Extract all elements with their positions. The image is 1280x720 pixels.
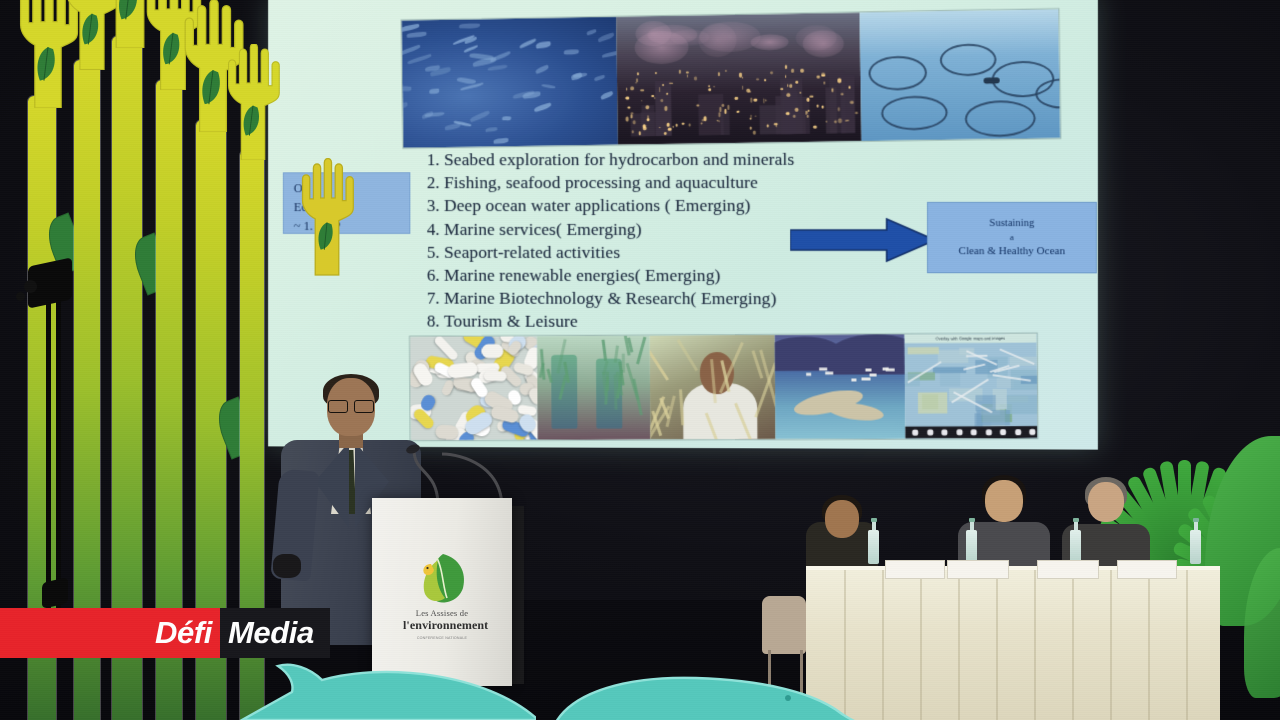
- photo-detail: [642, 100, 643, 102]
- panellist-head: [1088, 482, 1124, 522]
- photo-detail: [628, 106, 631, 108]
- photo-detail: [402, 23, 420, 32]
- photo-detail: [639, 131, 641, 136]
- water-bottle: [966, 518, 977, 564]
- photo-detail: [662, 84, 664, 86]
- photo-detail: [402, 45, 421, 56]
- photo-google-maps-screenshot: Overlay with Google maps and images: [904, 334, 1037, 439]
- photo-detail: [483, 371, 506, 382]
- water-bottle: [868, 518, 879, 564]
- photo-detail: [793, 114, 795, 118]
- photo-detail: [402, 86, 412, 92]
- panellist-head: [985, 480, 1023, 522]
- photo-detail: [791, 69, 794, 73]
- slide-bottom-image-strip: Overlay with Google maps and images: [409, 332, 1038, 441]
- photo-detail: [841, 93, 844, 94]
- photo-detail: [908, 347, 939, 354]
- podium-logo-line2: l'environnement: [403, 618, 481, 633]
- photo-detail: [640, 90, 644, 92]
- photo-detail: [708, 89, 711, 91]
- photo-detail: [786, 112, 790, 114]
- photo-detail: [659, 87, 660, 92]
- podium-logo: Les Assises de l'environnement CONFERENC…: [403, 552, 481, 640]
- photo-detail: [850, 101, 853, 104]
- photo-detail: [626, 88, 627, 91]
- photo-detail: [464, 44, 479, 52]
- photo-detail: [651, 95, 654, 97]
- photo-detail: [806, 98, 809, 102]
- taskbar-icon: [1000, 429, 1006, 435]
- photo-detail: [429, 89, 439, 94]
- table-drape-fold: [882, 570, 884, 720]
- photo-detail: [719, 107, 721, 112]
- slide-list-item: Marine Biotechnology & Research( Emergin…: [444, 287, 966, 311]
- watermark-word-defi: Défi: [155, 615, 212, 651]
- moored-boat: [806, 373, 811, 376]
- photo-detail: [823, 81, 825, 84]
- photo-laboratory-bottles: [537, 335, 650, 439]
- photo-detail: [826, 400, 884, 424]
- photo-detail: [800, 69, 804, 73]
- photo-detail: [673, 126, 674, 129]
- table-drape-fold: [920, 570, 922, 720]
- photo-detail: [407, 53, 432, 64]
- photo-detail: [754, 98, 758, 101]
- taskbar-icon: [1029, 429, 1035, 435]
- podium-logo-line3: CONFERENCE NATIONALE: [403, 636, 481, 640]
- photo-detail: [681, 122, 684, 125]
- moored-boat: [819, 367, 827, 370]
- photo-aquaculture-fish-pens: [860, 9, 1060, 141]
- photo-detail: [770, 71, 774, 74]
- water-bottle: [1070, 518, 1081, 564]
- photo-detail: [725, 70, 727, 72]
- photo-detail: [1006, 395, 1037, 414]
- sustaining-line2: a: [928, 232, 1096, 242]
- plant-stem: [636, 336, 646, 363]
- photo-detail: [696, 104, 700, 106]
- name-card: [1037, 560, 1099, 579]
- boat: [984, 77, 1000, 83]
- photo-detail: [810, 95, 813, 97]
- photo-detail: [789, 84, 792, 88]
- photo-detail: [759, 105, 783, 134]
- photo-detail: [502, 116, 511, 121]
- photo-detail: [601, 49, 618, 57]
- photo-detail: [735, 97, 738, 100]
- taskbar-icon: [971, 429, 977, 435]
- moored-boat: [866, 369, 872, 372]
- lighting-stand: [22, 262, 92, 622]
- photo-detail: [587, 29, 598, 36]
- plant-stem: [613, 375, 617, 410]
- moored-boat: [862, 377, 870, 380]
- water-bottle: [1190, 518, 1201, 564]
- photo-detail: [535, 64, 550, 74]
- photo-detail: [469, 111, 490, 123]
- photo-detail: [689, 124, 691, 127]
- photo-detail: [813, 126, 817, 128]
- photo-detail: [487, 65, 508, 71]
- photo-detail: [694, 77, 697, 81]
- photo-detail: [636, 78, 638, 82]
- photo-detail: [764, 79, 766, 80]
- photo-detail: [626, 97, 630, 100]
- photo-detail: [700, 122, 702, 124]
- photo-detail: [720, 111, 730, 136]
- photo-detail: [780, 88, 784, 90]
- photo-shoal-of-fish-underwater: [402, 17, 619, 148]
- photo-detail: [494, 138, 509, 144]
- photo-detail: [402, 101, 409, 108]
- photo-detail: [718, 72, 720, 76]
- slide-list-item: Fishing, seafood processing and aquacult…: [444, 171, 966, 195]
- photo-detail: [845, 120, 849, 121]
- photo-detail: [750, 127, 753, 129]
- photo-waterfront-city-at-night: [617, 13, 862, 145]
- photo-detail: [631, 130, 634, 133]
- photo-detail: [563, 50, 578, 55]
- photo-detail: [708, 85, 710, 86]
- moored-boat: [826, 371, 833, 374]
- taskbar-icon: [986, 429, 992, 435]
- watermark-red-panel: Défi: [0, 608, 220, 658]
- photo-detail: [460, 83, 484, 92]
- sustaining-line1: Sustaining: [928, 218, 1096, 229]
- photo-coastal-bay-harbour: [775, 334, 905, 439]
- photo-detail: [459, 23, 480, 28]
- panellist-head: [825, 500, 859, 538]
- glasses-icon: [328, 400, 374, 411]
- photo-detail: [679, 70, 681, 74]
- photo-scientist-in-lab-coat: [650, 335, 776, 440]
- photo-detail: [795, 108, 799, 112]
- taskbar-icon: [956, 429, 962, 435]
- plant-stem: [626, 363, 640, 401]
- slide-list-item: Deep ocean water applications ( Emerging…: [444, 194, 966, 217]
- photo-detail: [676, 124, 677, 126]
- slide-list-item: Marine renewable energies( Emerging): [444, 264, 966, 288]
- photo-detail: [775, 124, 776, 127]
- stage-decor-hand-overlay: [288, 158, 366, 276]
- slide-list-item: Seabed exploration for hydrocarbon and m…: [444, 148, 966, 172]
- photo-detail: [817, 105, 818, 108]
- watermark-word-media: Media: [228, 615, 314, 651]
- photo-pharmaceutical-capsules: [410, 336, 538, 440]
- photo-detail: [826, 87, 837, 134]
- photo-detail: [787, 93, 791, 97]
- photo-detail: [686, 72, 689, 73]
- photo-detail: [486, 127, 498, 131]
- photo-detail: [699, 21, 761, 53]
- photo-detail: [447, 362, 478, 380]
- photo-detail: [976, 410, 1009, 425]
- photo-detail: [598, 33, 615, 43]
- watermark-dark-panel: Media: [220, 608, 330, 658]
- photo-detail: [754, 116, 756, 117]
- table-drape-fold: [1072, 570, 1074, 720]
- photo-detail: [742, 86, 744, 90]
- name-card: [947, 560, 1009, 579]
- map-caption: Overlay with Google maps and images: [904, 334, 1037, 344]
- photo-detail: [868, 55, 927, 90]
- photo-detail: [722, 104, 725, 107]
- right-arrow-icon: [790, 218, 936, 262]
- photo-detail: [822, 74, 825, 76]
- stage-decor-whale-right: [556, 658, 856, 720]
- photo-detail: [702, 120, 705, 121]
- defi-media-watermark: Défi Media: [0, 608, 330, 658]
- photo-detail: [630, 112, 633, 114]
- photo-detail: [766, 124, 768, 127]
- photo-detail: [727, 105, 728, 110]
- podium-logo-line1: Les Assises de: [403, 608, 481, 618]
- photo-detail: [667, 123, 670, 127]
- table-drape-fold: [958, 570, 960, 720]
- moored-boat: [885, 369, 895, 372]
- name-card: [885, 560, 945, 579]
- photo-detail: [519, 38, 538, 49]
- photo-detail: [490, 405, 520, 424]
- photo-detail: [645, 105, 649, 109]
- map-road: [966, 354, 987, 356]
- photo-detail: [736, 110, 739, 112]
- panel-table: [806, 570, 1220, 720]
- photo-detail: [848, 85, 850, 89]
- taskbar-icon: [913, 429, 919, 435]
- photo-detail: [636, 83, 637, 84]
- photo-detail: [751, 98, 753, 103]
- grass-blade: [650, 344, 669, 381]
- photo-detail: [482, 344, 504, 358]
- photo-detail: [533, 103, 551, 113]
- photo-detail: [964, 100, 1035, 137]
- table-drape-fold: [1186, 570, 1188, 720]
- photo-detail: [435, 424, 458, 439]
- photo-detail: [718, 112, 720, 117]
- photo-detail: [664, 106, 667, 110]
- taskbar-icon: [942, 429, 948, 435]
- photo-detail: [425, 112, 445, 118]
- photo-detail: [750, 118, 751, 120]
- table-drape-fold: [1034, 570, 1036, 720]
- taskbar-icon: [1015, 429, 1021, 435]
- photo-detail: [535, 42, 550, 50]
- photo-detail: [940, 44, 997, 77]
- table-drape-fold: [996, 570, 998, 720]
- photo-detail: [725, 109, 727, 114]
- photo-detail: [933, 367, 966, 373]
- photo-detail: [821, 105, 824, 108]
- photo-detail: [630, 86, 634, 90]
- photo-detail: [765, 99, 766, 101]
- photo-detail: [626, 117, 629, 121]
- stage-decor-whale-left: [236, 648, 536, 720]
- sustaining-line3: Clean & Healthy Ocean: [928, 245, 1096, 257]
- photo-detail: [637, 72, 640, 76]
- photo-detail: [918, 393, 947, 414]
- photo-detail: [855, 112, 858, 114]
- photo-detail: [746, 88, 750, 92]
- photo-detail: [407, 32, 427, 38]
- photo-detail: [570, 72, 582, 80]
- name-card: [1117, 560, 1177, 579]
- photo-detail: [593, 74, 604, 81]
- screenshot-root: Seabed exploration for hydrocarbon and m…: [0, 0, 1280, 720]
- photo-detail: [796, 81, 798, 83]
- photo-detail: [600, 91, 614, 100]
- leaf-bird-logo-icon: [413, 552, 471, 604]
- photo-detail: [655, 72, 657, 74]
- photo-detail: [881, 96, 948, 131]
- taskbar-icon: [927, 429, 933, 435]
- photo-detail: [643, 125, 646, 129]
- photo-detail: [808, 110, 810, 112]
- moored-boat: [852, 379, 857, 382]
- photo-detail: [807, 115, 809, 117]
- photo-detail: [713, 86, 715, 87]
- photo-detail: [687, 74, 688, 77]
- table-drape-fold: [1148, 570, 1150, 720]
- stage-decor-hand: [214, 44, 292, 160]
- slide-list-item: Tourism & Leisure: [444, 310, 966, 334]
- photo-detail: [753, 130, 756, 134]
- photo-detail: [785, 65, 788, 68]
- grass-blade: [677, 339, 698, 371]
- slide-top-image-strip: [401, 8, 1062, 149]
- photo-detail: [802, 30, 844, 58]
- slide-sustaining-box: Sustaining a Clean & Healthy Ocean: [927, 202, 1097, 274]
- photo-detail: [756, 79, 759, 80]
- moored-boat: [869, 373, 876, 376]
- photo-detail: [750, 114, 751, 117]
- photo-detail: [542, 84, 557, 90]
- table-drape-fold: [1110, 570, 1112, 720]
- chair: [762, 596, 806, 654]
- photo-detail: [838, 119, 842, 123]
